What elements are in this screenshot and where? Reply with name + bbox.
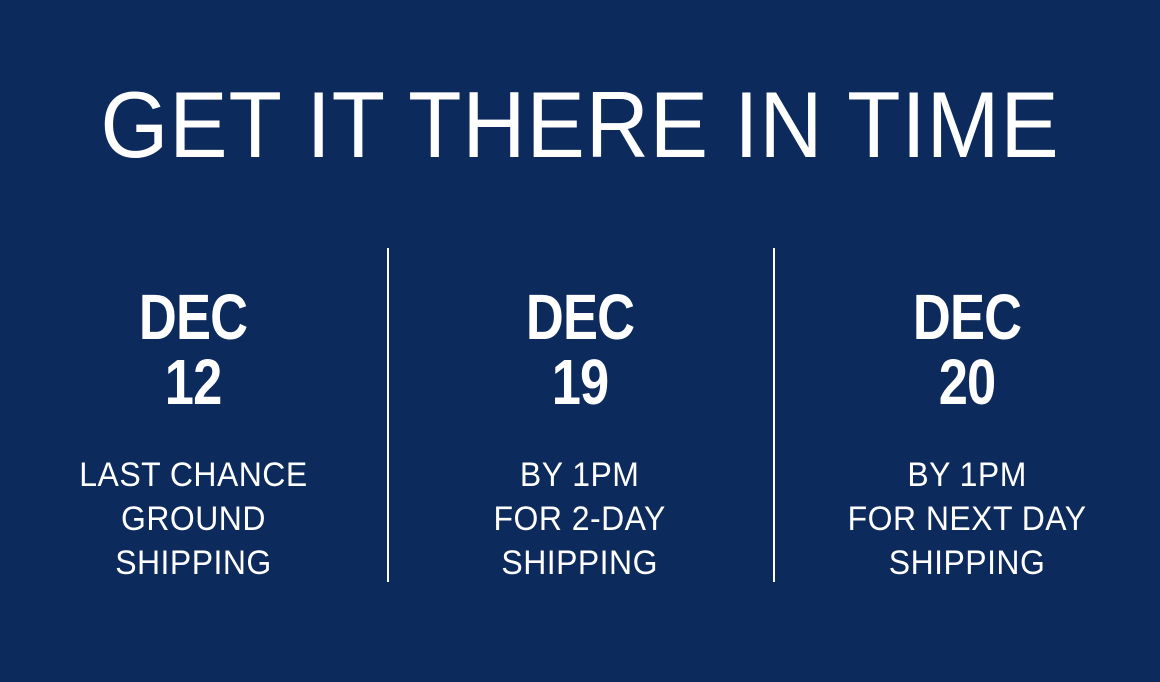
deadline-detail-line: LAST CHANCE bbox=[79, 453, 307, 497]
deadline-column-ground: DEC 12 LAST CHANCE GROUND SHIPPING bbox=[0, 248, 387, 588]
deadline-column-next-day: DEC 20 BY 1PM FOR NEXT DAY SHIPPING bbox=[773, 248, 1160, 588]
deadline-detail-line: SHIPPING bbox=[79, 541, 307, 585]
deadline-detail: LAST CHANCE GROUND SHIPPING bbox=[79, 453, 307, 585]
deadline-detail-line: SHIPPING bbox=[847, 541, 1086, 585]
shipping-deadline-banner: GET IT THERE IN TIME DEC 12 LAST CHANCE … bbox=[0, 0, 1160, 682]
deadline-detail-line: FOR 2-DAY bbox=[494, 497, 666, 541]
deadline-month: DEC bbox=[139, 285, 247, 350]
deadline-date: DEC 19 bbox=[526, 285, 634, 415]
deadline-month: DEC bbox=[526, 285, 634, 350]
deadline-date: DEC 12 bbox=[139, 285, 247, 415]
deadline-columns: DEC 12 LAST CHANCE GROUND SHIPPING DEC 1… bbox=[0, 248, 1160, 588]
deadline-column-two-day: DEC 19 BY 1PM FOR 2-DAY SHIPPING bbox=[387, 248, 774, 588]
deadline-month: DEC bbox=[913, 285, 1021, 350]
deadline-detail: BY 1PM FOR 2-DAY SHIPPING bbox=[494, 453, 666, 585]
deadline-day: 12 bbox=[139, 350, 247, 415]
page-title: GET IT THERE IN TIME bbox=[41, 78, 1120, 172]
deadline-detail-line: FOR NEXT DAY bbox=[847, 497, 1086, 541]
deadline-detail-line: BY 1PM bbox=[847, 453, 1086, 497]
deadline-day: 20 bbox=[913, 350, 1021, 415]
deadline-date: DEC 20 bbox=[913, 285, 1021, 415]
deadline-day: 19 bbox=[526, 350, 634, 415]
deadline-detail-line: SHIPPING bbox=[494, 541, 666, 585]
deadline-detail-line: BY 1PM bbox=[494, 453, 666, 497]
deadline-detail-line: GROUND bbox=[79, 497, 307, 541]
deadline-detail: BY 1PM FOR NEXT DAY SHIPPING bbox=[847, 453, 1086, 585]
